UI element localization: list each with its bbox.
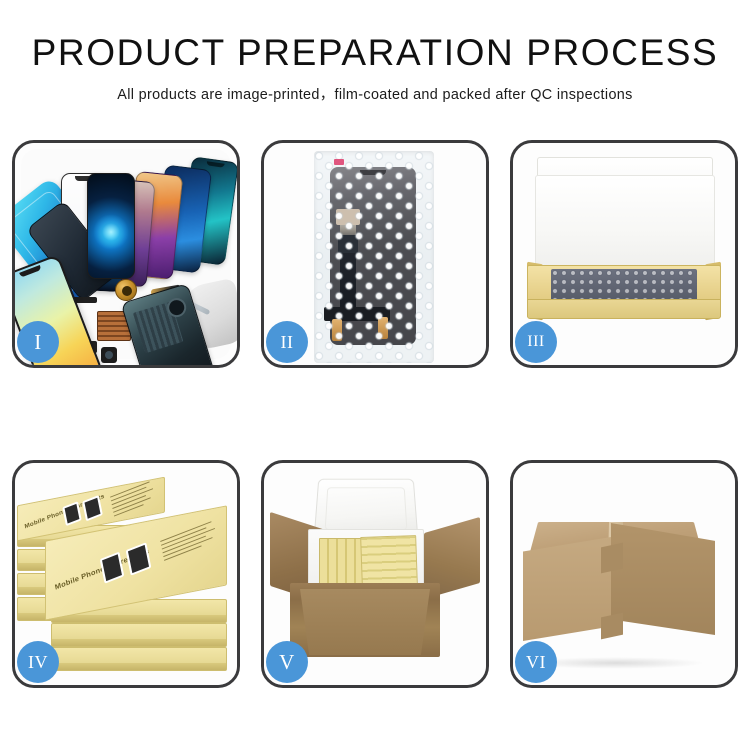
page-subtitle: All products are image-printed，film-coat… [0, 83, 750, 104]
step-badge-1: I [17, 321, 59, 363]
carton-corner-tab-upper [601, 543, 623, 574]
carton-left-face [523, 537, 611, 641]
process-step-panel-1[interactable]: I [12, 140, 240, 368]
box-spec-lines-front [160, 519, 221, 564]
step-badge-6: VI [515, 641, 557, 683]
carton-corner-tab-lower [601, 613, 623, 640]
inner-box-group [527, 153, 721, 349]
box-window-back-1 [62, 501, 82, 526]
box-window-back-2 [82, 495, 103, 521]
pink-qc-label [334, 159, 344, 165]
process-step-panel-5[interactable]: V [261, 460, 489, 688]
bubble-sheet-in-box [551, 269, 697, 301]
phone-jellyfish-wallpaper [87, 173, 135, 279]
carton-right-face [611, 523, 715, 635]
stacked-box-r2 [51, 623, 227, 647]
step-badge-4: IV [17, 641, 59, 683]
foam-box-body [308, 529, 424, 591]
process-step-grid: I II [12, 140, 738, 688]
product-preparation-process-page: PRODUCT PREPARATION PROCESS All products… [0, 0, 750, 750]
step-badge-2: II [266, 321, 308, 363]
camera-module-icon [101, 347, 117, 363]
process-step-panel-3[interactable]: III [510, 140, 738, 368]
bubble-wrap-bag [314, 151, 434, 363]
process-step-panel-4[interactable]: Mobile Phone Spare Parts [12, 460, 240, 688]
process-step-panel-2[interactable]: II [261, 140, 489, 368]
vibration-motor-icon [115, 279, 137, 301]
page-title: PRODUCT PREPARATION PROCESS [0, 34, 750, 73]
carton-front-face [300, 589, 430, 655]
page-header: PRODUCT PREPARATION PROCESS All products… [0, 0, 750, 104]
step-badge-5: V [266, 641, 308, 683]
box-spec-lines-back [110, 480, 158, 519]
notch-icon [19, 265, 41, 278]
packed-retail-boxes-stack [360, 535, 418, 587]
step-badge-3: III [515, 321, 557, 363]
notch-icon [206, 161, 224, 167]
box-front-lip [527, 299, 721, 319]
stacked-box-r3 [51, 647, 227, 671]
bubble-texture-overlay [314, 151, 434, 363]
process-step-panel-6[interactable]: VI [510, 460, 738, 688]
